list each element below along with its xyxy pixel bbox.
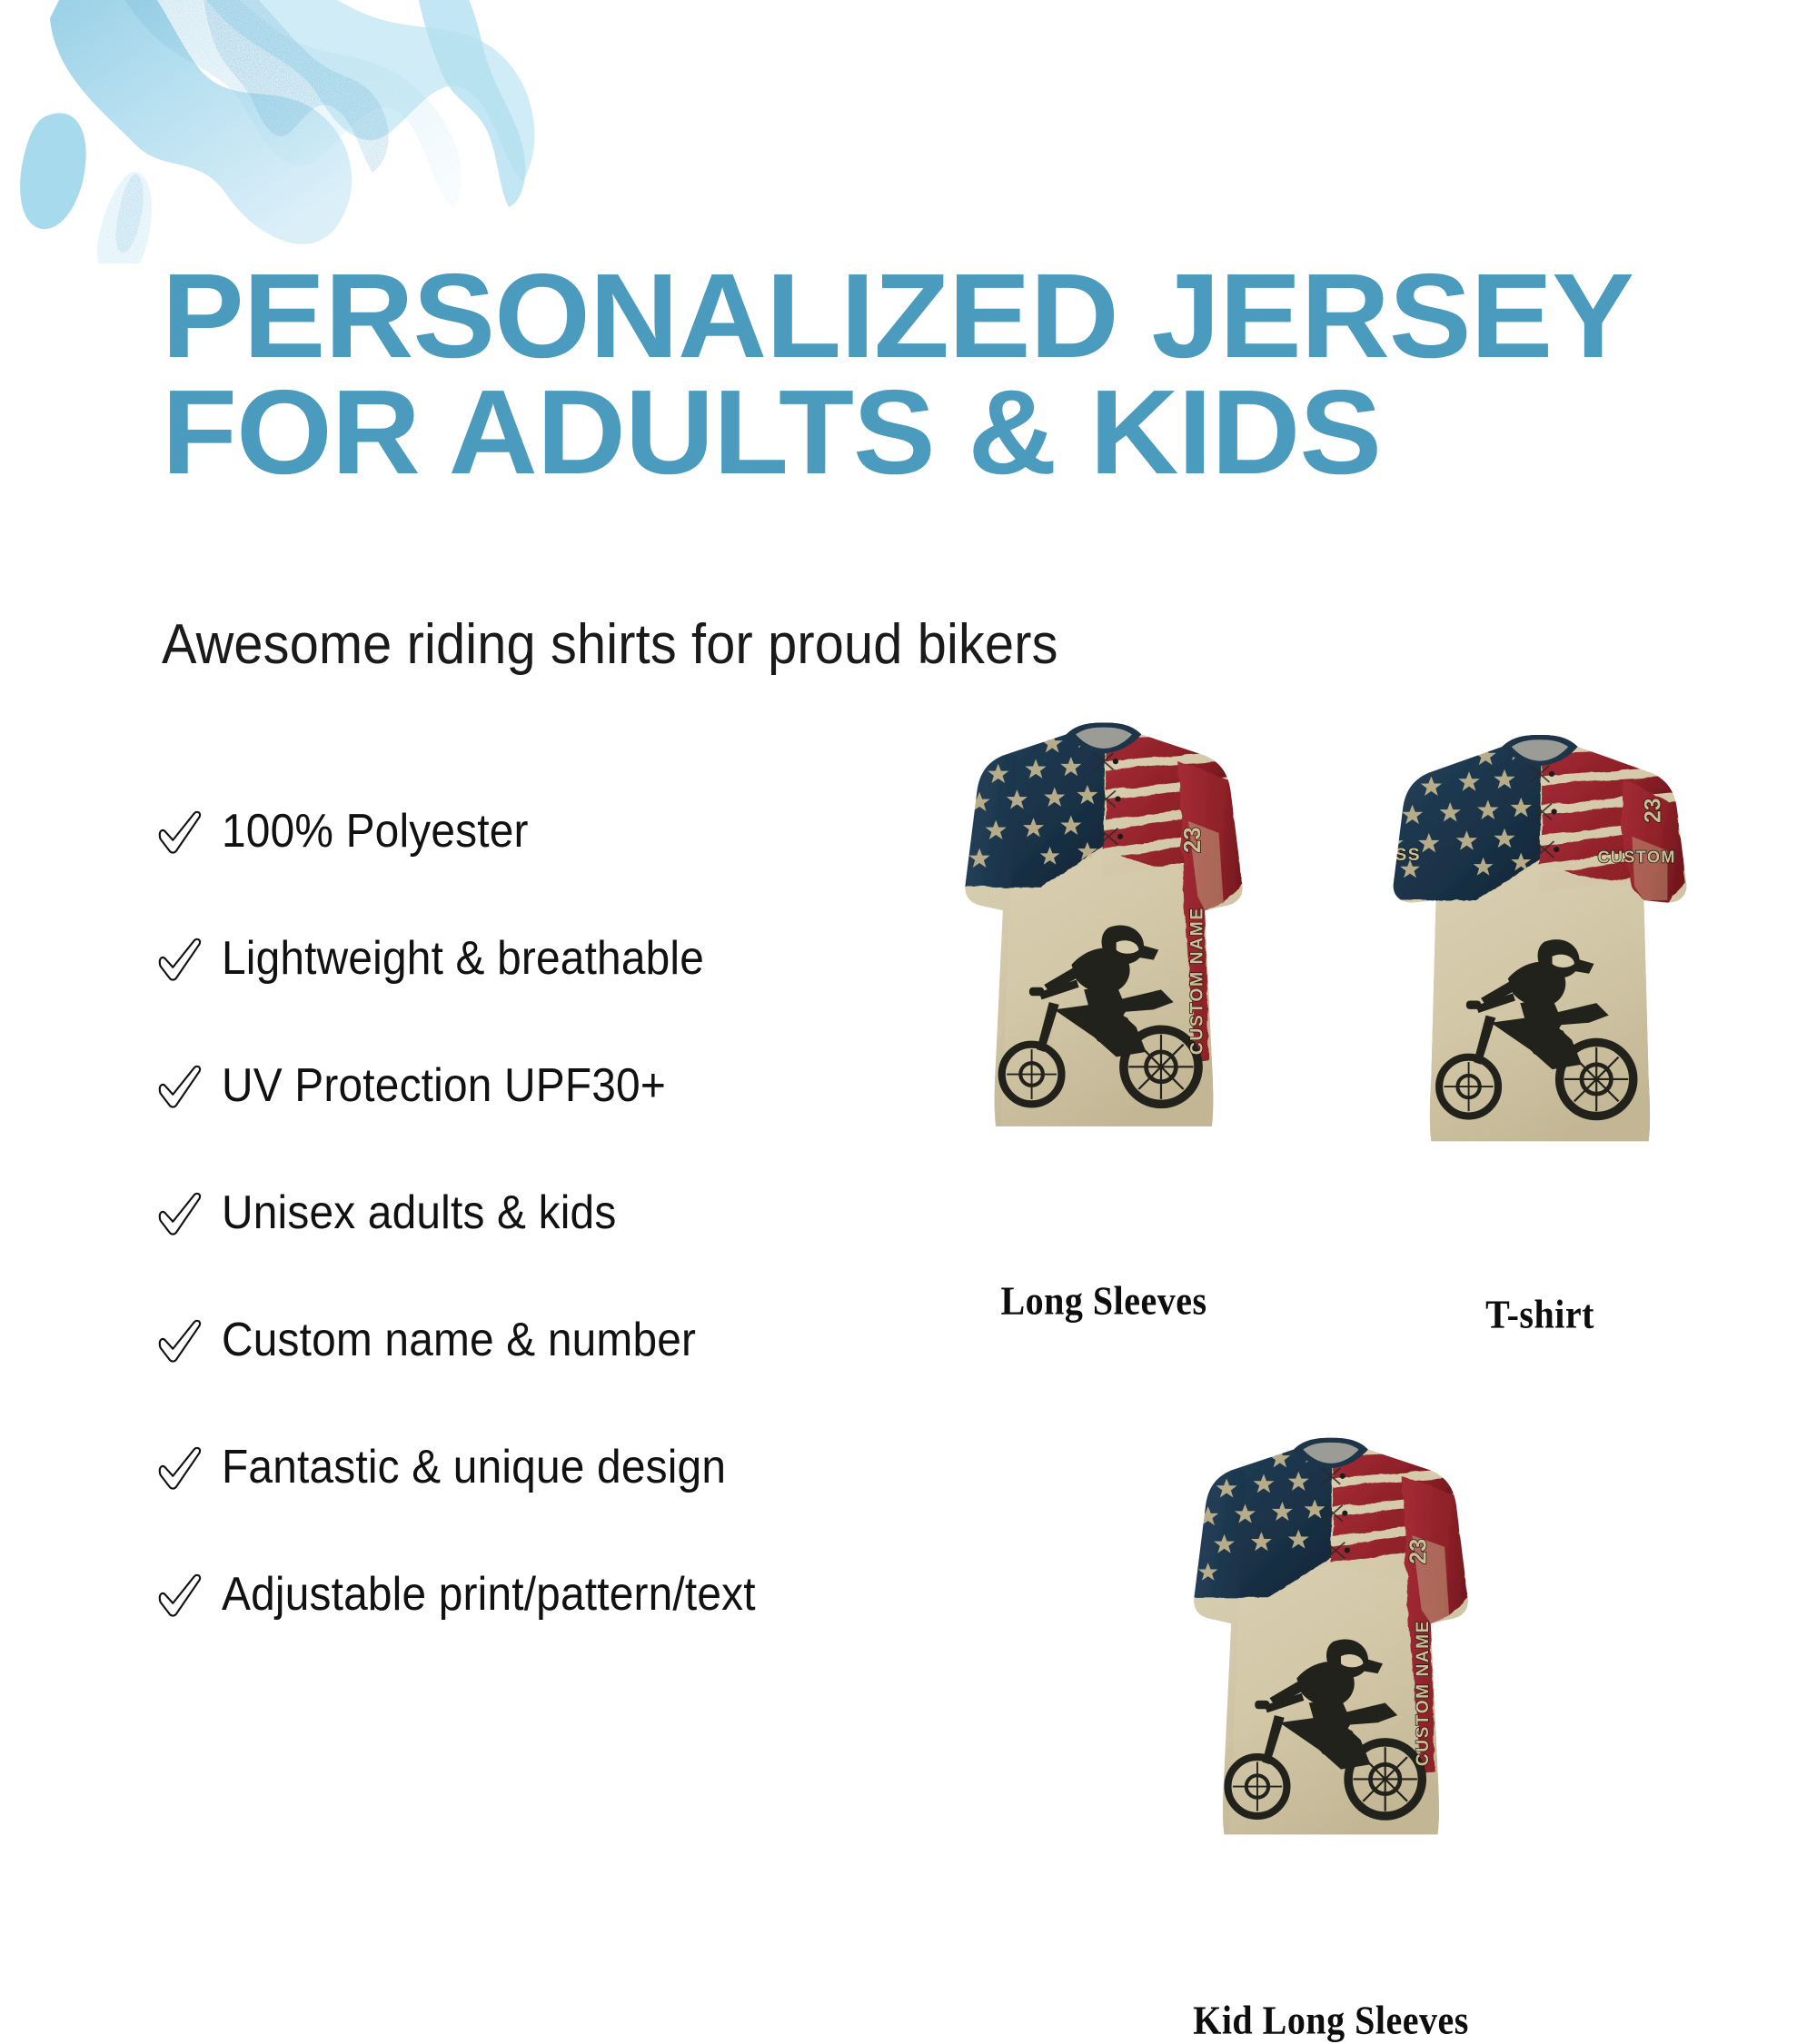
feature-label: Custom name & number [222,1313,696,1367]
sleeve-text-motocross: MOTOCROSS [1196,1640,1219,1784]
feature-list: 100% Polyester Lightweight & breathable … [153,768,934,1658]
product-image-t-shirt: CROSS 23 CUSTOM [1363,722,1717,1267]
sleeve-number: 23 [1406,1539,1432,1564]
feature-label: UV Protection UPF30+ [222,1058,666,1113]
sleeve-number: 23 [1642,798,1666,822]
list-item: Lightweight & breathable [153,895,934,1022]
list-item: Unisex adults & kids [153,1149,934,1276]
check-outline-icon [153,805,209,861]
page-title: PERSONALIZED JERSEY FOR ADULTS & KIDS [162,258,1715,491]
feature-label: Adjustable print/pattern/text [222,1567,756,1622]
list-item: Adjustable print/pattern/text [153,1531,934,1658]
product-card-kid-long-sleeves[interactable]: MOTOCROSS 23 CUSTOM NAME Kid Long Sleeve… [1154,1426,1508,1971]
page-subtitle: Awesome riding shirts for proud bikers [162,612,1058,677]
product-caption: Long Sleeves [927,1276,1281,1325]
check-outline-icon [153,1314,209,1370]
list-item: Custom name & number [153,1276,934,1404]
feature-label: Lightweight & breathable [222,931,704,986]
page-title-line-1: PERSONALIZED JERSEY [162,249,1633,382]
sleeve-text-custom-name: CUSTOM [1597,848,1675,866]
product-caption: T-shirt [1363,1290,1717,1338]
sleeve-number: 23 [1180,827,1206,853]
sleeve-text-motocross: MOTOCROSS [968,928,991,1075]
check-outline-icon [153,1568,209,1624]
list-item: 100% Polyester [153,768,934,895]
product-gallery: MOTOCROSS 23 CUSTOM NAME [908,709,1817,1617]
list-item: UV Protection UPF30+ [153,1022,934,1149]
product-caption: Kid Long Sleeves [1154,1996,1508,2044]
check-outline-icon [153,1059,209,1116]
feature-label: Fantastic & unique design [222,1440,726,1494]
feature-label: Unisex adults & kids [222,1186,616,1240]
product-image-long-sleeves: MOTOCROSS 23 CUSTOM NAME [927,709,1281,1272]
product-card-t-shirt[interactable]: CROSS 23 CUSTOM T-shirt [1363,722,1717,1267]
watercolor-brush-stroke [0,0,581,263]
promo-page: PERSONALIZED JERSEY FOR ADULTS & KIDS Aw… [0,0,1817,1817]
page-title-line-2: FOR ADULTS & KIDS [162,374,1715,491]
sleeve-text-custom-name: CUSTOM NAME [1414,1620,1433,1766]
product-card-long-sleeves[interactable]: MOTOCROSS 23 CUSTOM NAME [927,709,1281,1272]
sleeve-text-motocross: CROSS [1363,845,1421,865]
sleeve-text-custom-name: CUSTOM NAME [1187,907,1207,1055]
product-image-kid-long-sleeves: MOTOCROSS 23 CUSTOM NAME [1154,1426,1508,1971]
feature-label: 100% Polyester [222,804,529,858]
check-outline-icon [153,1186,209,1243]
check-outline-icon [153,932,209,988]
check-outline-icon [153,1441,209,1497]
list-item: Fantastic & unique design [153,1404,934,1531]
